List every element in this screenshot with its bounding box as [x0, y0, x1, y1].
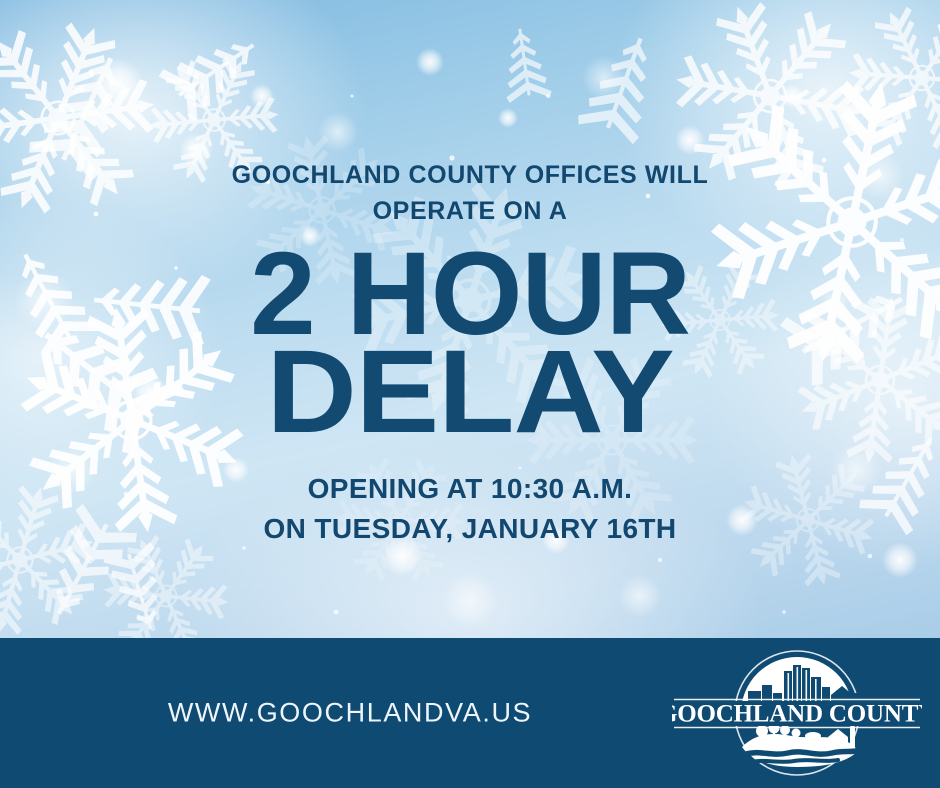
kicker-line-1: GOOCHLAND COUNTY OFFICES WILL	[160, 158, 780, 194]
footer-bar: WWW.GOOCHLANDVA.US	[0, 638, 940, 788]
opening-time-line: OPENING AT 10:30 A.M.	[263, 469, 676, 510]
kicker-block: GOOCHLAND COUNTY OFFICES WILL OPERATE ON…	[160, 158, 780, 229]
kicker-line-2: OPERATE ON A	[160, 194, 780, 230]
county-seal-icon[interactable]: GOOCHLAND COUNTY	[672, 643, 922, 783]
opening-date-line: ON TUESDAY, JANUARY 16TH	[263, 509, 676, 550]
winter-delay-announcement-poster: GOOCHLAND COUNTY OFFICES WILL OPERATE ON…	[0, 0, 940, 788]
headline-line-2: DELAY	[266, 341, 673, 445]
announcement-text-block: GOOCHLAND COUNTY OFFICES WILL OPERATE ON…	[0, 0, 940, 638]
opening-time-block: OPENING AT 10:30 A.M. ON TUESDAY, JANUAR…	[263, 469, 676, 550]
website-url[interactable]: WWW.GOOCHLANDVA.US	[50, 698, 650, 729]
seal-wordmark: GOOCHLAND COUNTY	[672, 701, 922, 728]
